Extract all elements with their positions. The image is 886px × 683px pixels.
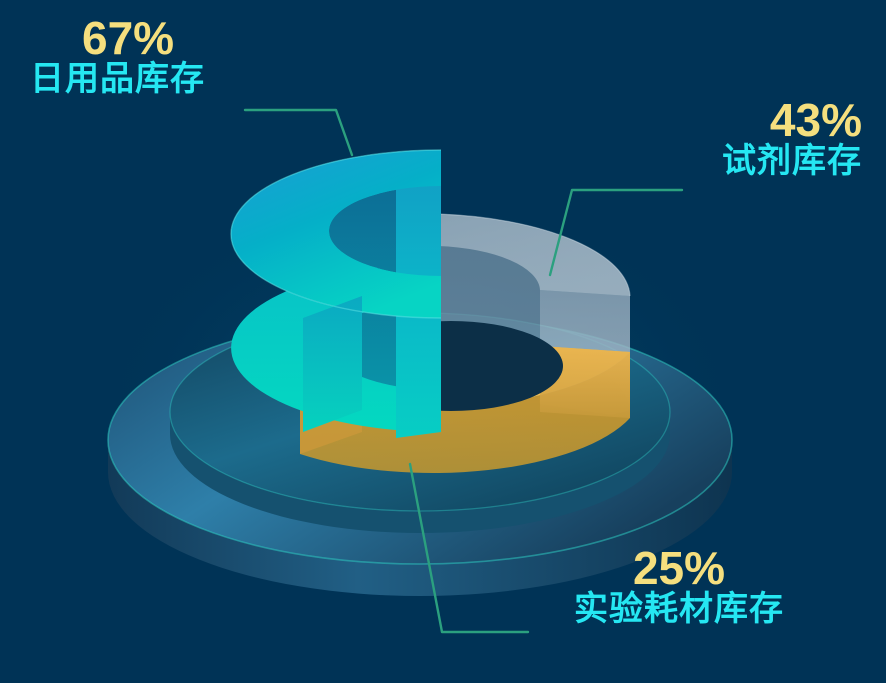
callout-consumable[interactable]: 25% 实验耗材库存 [488,544,870,628]
callout-daily[interactable]: 67% 日用品库存 [30,14,205,98]
infographic-canvas: 67% 日用品库存 43% 试剂库存 25% 实验耗材库存 [0,0,886,683]
percent-value-consumable: 25% [488,544,870,592]
category-label-consumable: 实验耗材库存 [488,592,870,628]
leader-line-daily [245,110,352,155]
category-label-reagent: 试剂库存 [600,144,862,180]
category-label-daily: 日用品库存 [30,62,205,98]
percent-value-daily: 67% [30,14,205,62]
callout-reagent[interactable]: 43% 试剂库存 [600,96,862,180]
percent-value-reagent: 43% [600,96,862,144]
